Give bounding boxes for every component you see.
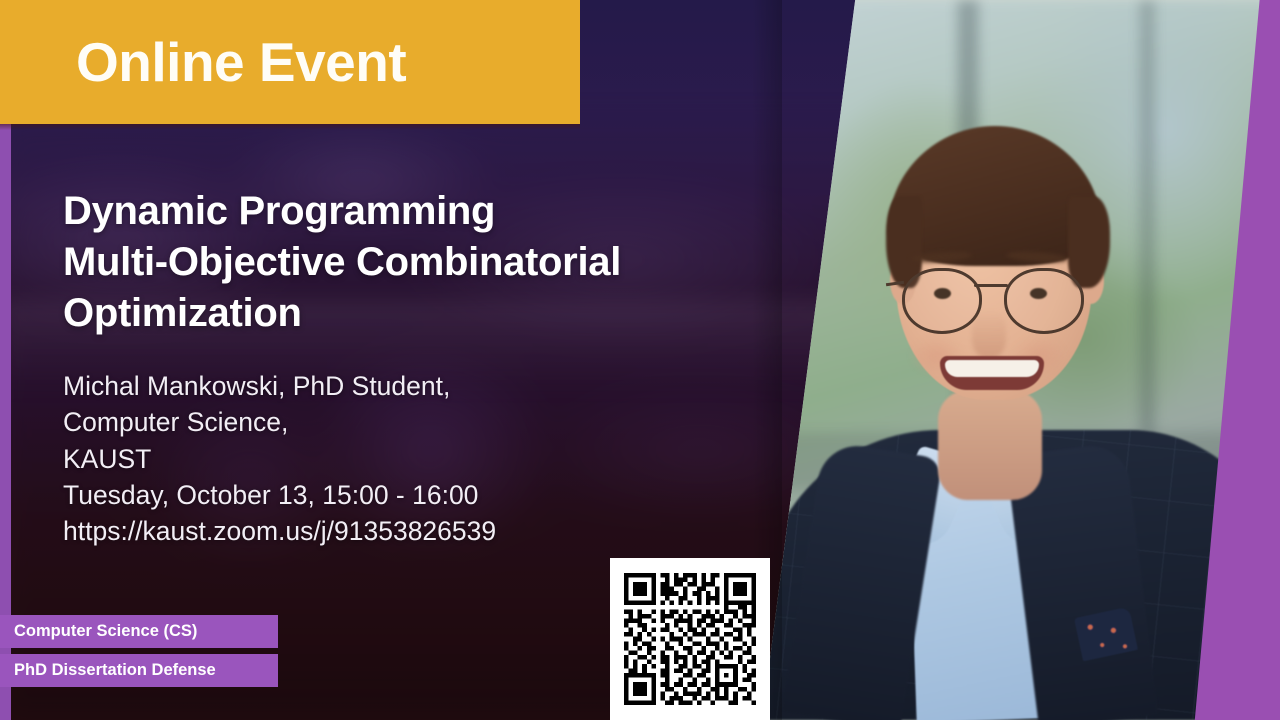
zoom-link[interactable]: https://kaust.zoom.us/j/91353826539 bbox=[63, 513, 763, 549]
tag-list: Computer Science (CS) PhD Dissertation D… bbox=[0, 615, 278, 687]
online-event-banner: Online Event bbox=[0, 0, 580, 124]
event-details: Michal Mankowski, PhD Student, Computer … bbox=[63, 368, 763, 549]
glasses-bridge bbox=[974, 284, 1008, 287]
qr-code[interactable] bbox=[610, 558, 770, 720]
title-line-3: Optimization bbox=[63, 288, 763, 339]
title-line-2: Multi-Objective Combinatorial bbox=[63, 237, 763, 288]
institution-line: KAUST bbox=[63, 441, 763, 477]
tag-phd-dissertation-defense[interactable]: PhD Dissertation Defense bbox=[0, 654, 278, 687]
event-poster: Online Event Dynamic Programming Multi-O… bbox=[0, 0, 1280, 720]
neck bbox=[938, 390, 1042, 500]
banner-label: Online Event bbox=[76, 35, 406, 90]
datetime-line: Tuesday, October 13, 15:00 - 16:00 bbox=[63, 477, 763, 513]
banner-shadow bbox=[0, 124, 580, 130]
lens-right bbox=[1004, 268, 1084, 334]
page-title: Dynamic Programming Multi-Objective Comb… bbox=[63, 186, 763, 340]
tag-computer-science[interactable]: Computer Science (CS) bbox=[0, 615, 278, 648]
title-line-1: Dynamic Programming bbox=[63, 186, 763, 237]
department-line: Computer Science, bbox=[63, 404, 763, 440]
qr-code-image bbox=[624, 573, 756, 705]
lens-left bbox=[902, 268, 982, 334]
teeth bbox=[945, 360, 1039, 377]
mouth bbox=[940, 356, 1044, 390]
nose bbox=[972, 310, 1006, 358]
speaker-line: Michal Mankowski, PhD Student, bbox=[63, 368, 763, 404]
